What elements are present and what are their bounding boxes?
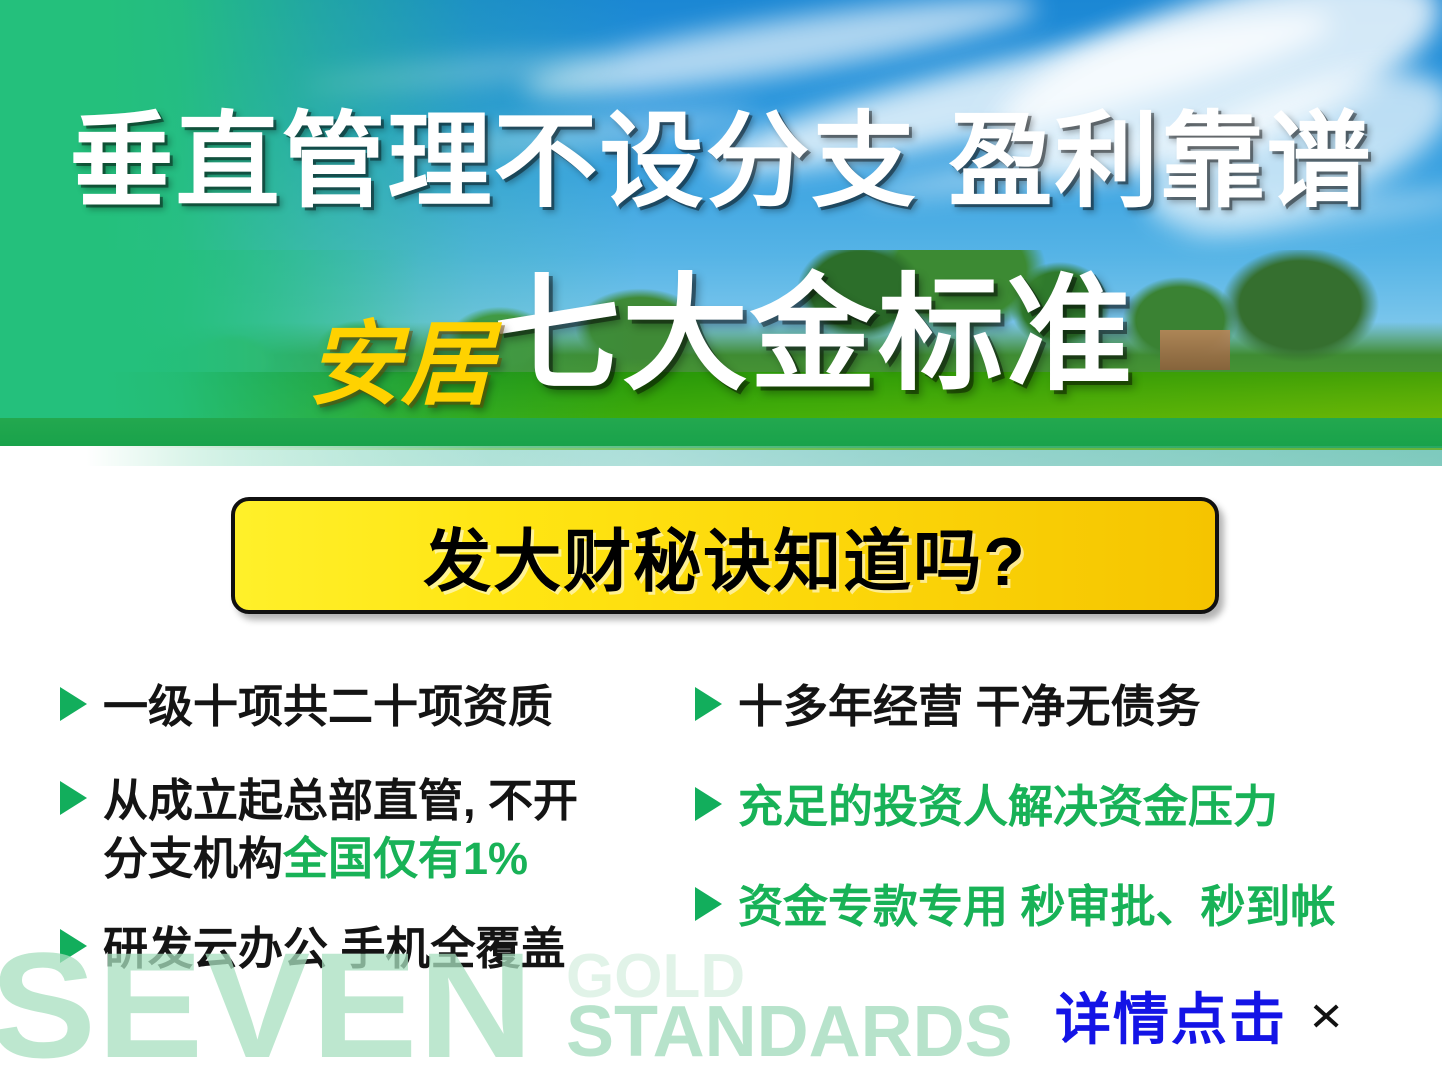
triangle-bullet-icon [695, 687, 722, 721]
chevron-right-icon [1313, 990, 1343, 1042]
details-click-label: 详情点击 [1055, 975, 1287, 1056]
list-item: 充足的投资人解决资金压力 [695, 778, 1278, 836]
list-item: 十多年经营 干净无债务 [695, 678, 1201, 736]
triangle-bullet-icon [60, 781, 87, 815]
hero-headline: 垂直管理不设分支 盈利靠谱 [0, 110, 1442, 214]
list-item: 一级十项共二十项资质 [60, 678, 553, 736]
hero-subline: 七大金标准 [494, 272, 1134, 398]
hero-subheadline: 安居七大金标准 [0, 272, 1442, 398]
list-item-line2-plain: 分支机构 [103, 833, 283, 884]
hero-bottom-bar [0, 418, 1442, 448]
list-item-label: 研发云办公 手机全覆盖 [103, 920, 566, 978]
list-item-line1: 从成立起总部直管, 不开 [103, 775, 578, 826]
hero-banner: 垂直管理不设分支 盈利靠谱 安居七大金标准 [0, 0, 1442, 466]
list-item-label: 资金专款专用 秒审批、秒到帐 [738, 878, 1336, 936]
highlight-banner-text: 发大财秘诀知道吗? [423, 506, 1027, 605]
hero-kicker: 安居 [308, 319, 494, 411]
triangle-bullet-icon [60, 929, 87, 963]
watermark-standards: STANDARDS [566, 996, 1013, 1066]
list-item-label: 一级十项共二十项资质 [103, 678, 553, 736]
triangle-bullet-icon [60, 687, 87, 721]
list-item: 从成立起总部直管, 不开分支机构全国仅有1% [60, 772, 578, 888]
list-item-label: 十多年经营 干净无债务 [738, 678, 1201, 736]
highlight-banner: 发大财秘诀知道吗? [231, 497, 1219, 614]
list-item-label: 充足的投资人解决资金压力 [738, 778, 1278, 836]
hero-bottom-curve [0, 446, 1442, 466]
list-item-label: 从成立起总部直管, 不开分支机构全国仅有1% [103, 772, 578, 888]
triangle-bullet-icon [695, 887, 722, 921]
list-item-line2-highlight: 全国仅有1% [283, 833, 528, 884]
list-item: 资金专款专用 秒审批、秒到帐 [695, 878, 1336, 936]
details-click-cta[interactable]: 详情点击 [1055, 975, 1343, 1056]
list-item: 研发云办公 手机全覆盖 [60, 920, 566, 978]
feature-bullets: 一级十项共二十项资质 从成立起总部直管, 不开分支机构全国仅有1% 研发云办公 … [0, 660, 1442, 990]
triangle-bullet-icon [695, 787, 722, 821]
